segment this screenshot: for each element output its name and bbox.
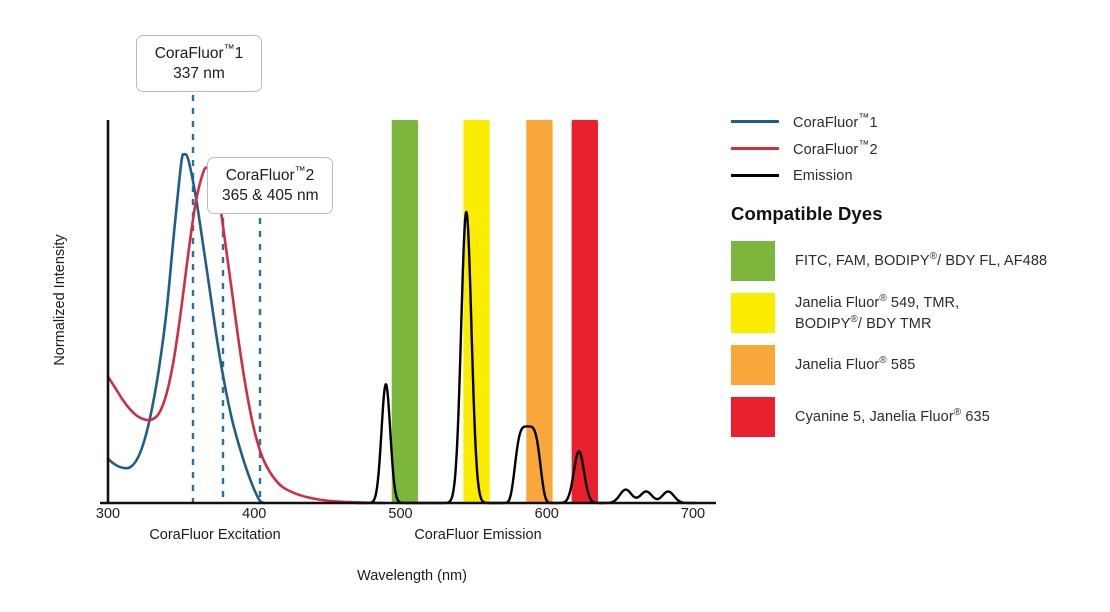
dye-item-label: Cyanine 5, Janelia Fluor® 635 [795,406,990,427]
curve-excitation-2 [108,168,386,503]
x-axis-title: Wavelength (nm) [357,568,467,584]
dye-color-swatch [731,241,775,281]
callout-corafluor1: CoraFluor™1 337 nm [136,35,262,92]
legend-item-label: Emission [793,168,853,184]
red-band [572,120,598,503]
side-panel: CoraFluor™1CoraFluor™2Emission Compatibl… [731,108,1101,443]
legend-item-label: CoraFluor™2 [793,139,878,158]
legend-item-label: CoraFluor™1 [793,112,878,131]
callout-2-line2: 365 & 405 nm [222,186,318,206]
callout-corafluor2: CoraFluor™2 365 & 405 nm [207,157,333,214]
x-axis-tick-400: 400 [242,506,266,522]
dye-item-4[interactable]: Cyanine 5, Janelia Fluor® 635 [731,391,1101,443]
x-axis-tick-300: 300 [96,506,120,522]
orange-band [526,120,552,503]
legend-line-swatch [731,174,779,177]
dye-item-3[interactable]: Janelia Fluor® 585 [731,339,1101,391]
legend-item-1[interactable]: CoraFluor™1 [731,108,1101,135]
axis-group-label-emission: CoraFluor Emission [414,527,541,543]
x-axis-tick-600: 600 [535,506,559,522]
legend-item-2[interactable]: CoraFluor™2 [731,135,1101,162]
legend-line-swatch [731,147,779,150]
x-axis-tick-700: 700 [681,506,705,522]
callout-1-line1: CoraFluor™1 [151,43,247,64]
series-legend: CoraFluor™1CoraFluor™2Emission [731,108,1101,189]
dye-color-swatch [731,397,775,437]
y-axis-title: Normalized Intensity [52,234,68,365]
compatible-dyes-list: FITC, FAM, BODIPY®/ BDY FL, AF488Janelia… [731,235,1101,443]
dye-item-label: Janelia Fluor® 549, TMR,BODIPY®/ BDY TMR [795,292,959,335]
dye-item-label: FITC, FAM, BODIPY®/ BDY FL, AF488 [795,250,1047,271]
callout-1-line2: 337 nm [151,64,247,84]
x-axis-tick-500: 500 [388,506,412,522]
green-band [392,120,418,503]
callout-2-line1: CoraFluor™2 [222,165,318,186]
legend-line-swatch [731,120,779,123]
emission-band-group [392,120,598,503]
dye-color-swatch [731,345,775,385]
compatible-dyes-title: Compatible Dyes [731,203,1101,225]
dye-color-swatch [731,293,775,333]
dye-item-label: Janelia Fluor® 585 [795,354,915,375]
legend-item-3[interactable]: Emission [731,162,1101,189]
dye-item-1[interactable]: FITC, FAM, BODIPY®/ BDY FL, AF488 [731,235,1101,287]
dye-item-2[interactable]: Janelia Fluor® 549, TMR,BODIPY®/ BDY TMR [731,287,1101,339]
axis-group-label-excitation: CoraFluor Excitation [149,527,280,543]
